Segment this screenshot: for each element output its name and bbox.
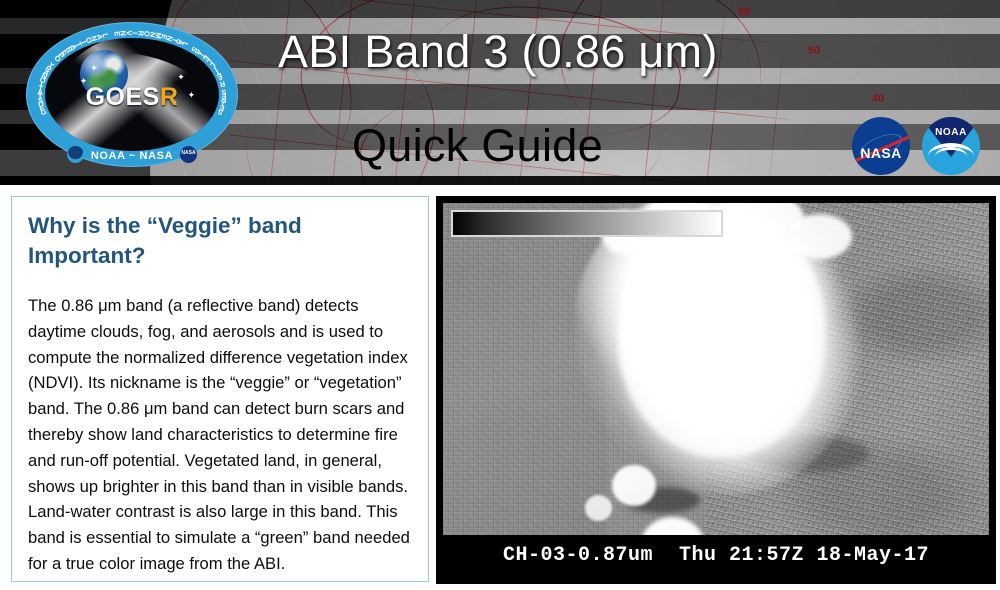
page-title: ABI Band 3 (0.86 μm) bbox=[278, 26, 718, 78]
page-header: 60 50 40 GEOSTATIONARY OPERATIONAL ENVIR… bbox=[0, 0, 1000, 185]
goes-r-nasa-seal-icon bbox=[180, 146, 197, 163]
goes-r-noaa-seal-icon bbox=[67, 146, 84, 163]
nasa-logo: NASA bbox=[852, 117, 910, 175]
star-icon: ✦ bbox=[177, 72, 185, 83]
nasa-wordmark: NASA bbox=[852, 145, 910, 161]
goes-r-wordmark: GOESR bbox=[45, 83, 219, 112]
satellite-image-panel: CH-03-0.87umThu 21:57Z 18-May-17 bbox=[436, 196, 996, 584]
goes-r-wordmark-accent: R bbox=[160, 83, 179, 111]
cumulus-cloud bbox=[612, 465, 656, 506]
cumulus-cloud bbox=[585, 495, 612, 521]
latitude-label-50: 50 bbox=[808, 45, 820, 57]
latitude-label-60: 60 bbox=[738, 6, 750, 18]
panel-heading: Why is the “Veggie” band Important? bbox=[28, 211, 412, 271]
why-important-panel: Why is the “Veggie” band Important? The … bbox=[11, 196, 429, 582]
goes-r-logo-inner: ✦ ✦ ✦ ✦ ✦ GOESR bbox=[45, 38, 219, 151]
caption-channel: CH-03-0.87um bbox=[503, 544, 653, 567]
noaa-seagull-icon-secondary bbox=[935, 147, 967, 166]
page-subtitle: Quick Guide bbox=[352, 120, 603, 172]
noaa-wordmark: NOAA bbox=[922, 127, 980, 138]
latitude-label-40: 40 bbox=[872, 93, 884, 105]
goes-r-bottom-text: NOAA ~ NASA bbox=[26, 150, 238, 162]
goes-r-logo: GEOSTATIONARY OPERATIONAL ENVIRONMENTAL … bbox=[26, 22, 238, 167]
caption-timestamp: Thu 21:57Z 18-May-17 bbox=[679, 544, 929, 567]
noaa-logo: NOAA bbox=[922, 117, 980, 175]
grayscale-colorbar bbox=[451, 210, 723, 237]
star-icon: ✦ bbox=[90, 63, 98, 74]
goes-r-wordmark-main: GOES bbox=[86, 83, 160, 111]
quick-guide-page: 60 50 40 GEOSTATIONARY OPERATIONAL ENVIR… bbox=[0, 0, 1000, 590]
image-caption: CH-03-0.87umThu 21:57Z 18-May-17 bbox=[443, 544, 989, 567]
satellite-image: CH-03-0.87umThu 21:57Z 18-May-17 bbox=[443, 203, 989, 577]
panel-body-text: The 0.86 μm band (a reflective band) det… bbox=[28, 293, 412, 577]
image-caption-bar: CH-03-0.87umThu 21:57Z 18-May-17 bbox=[443, 535, 989, 577]
